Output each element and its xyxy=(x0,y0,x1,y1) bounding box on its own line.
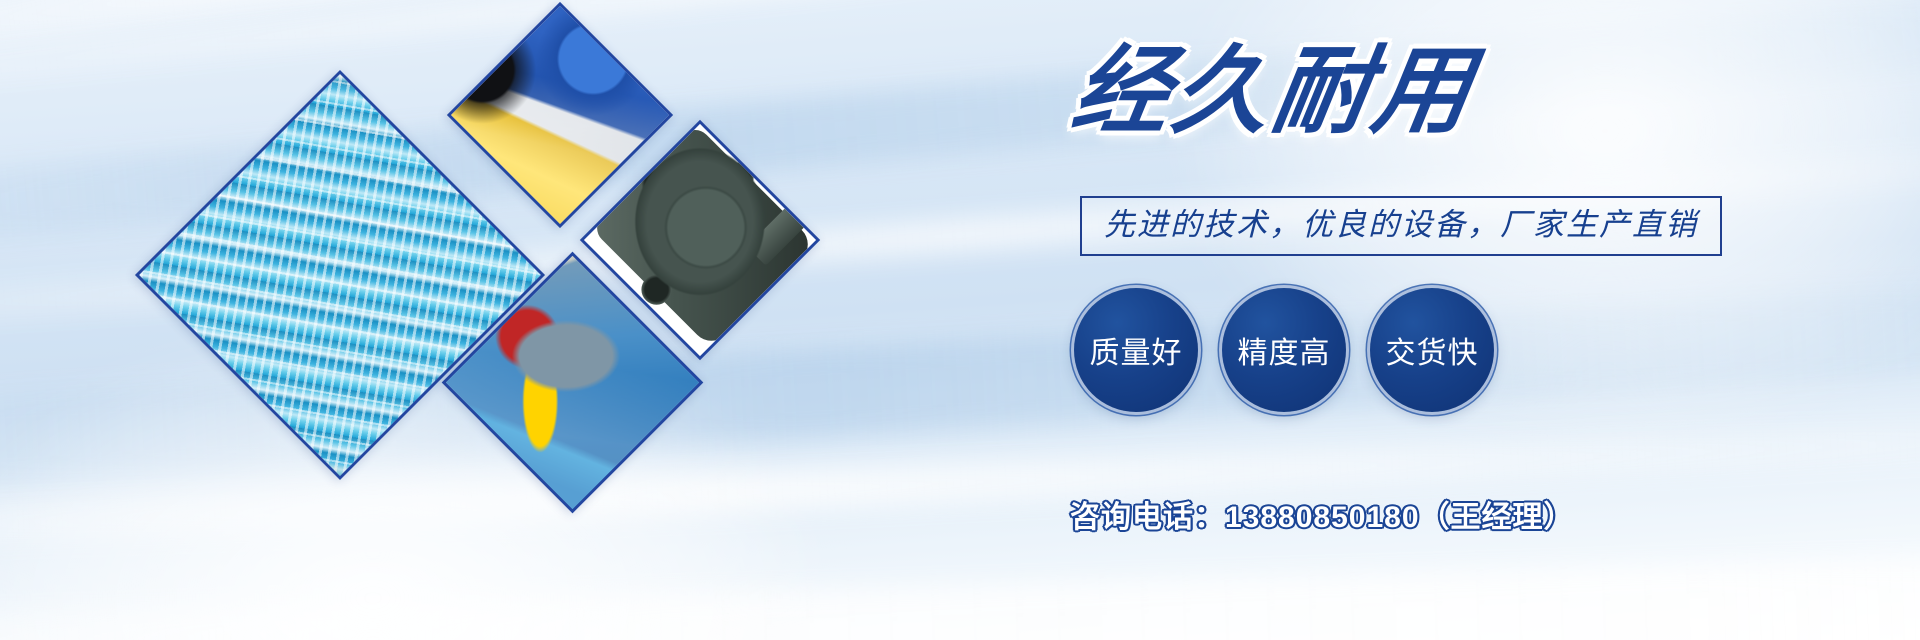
contact-phone-line[interactable]: 咨询电话：13880850180（王经理） xyxy=(1070,492,1575,536)
pump-bolt-hole-3 xyxy=(717,157,759,199)
pump-bolt-hole-1 xyxy=(635,163,677,205)
feature-badge-quality[interactable]: 质量好 xyxy=(1074,288,1198,412)
pump-bolt-hole-2 xyxy=(635,269,677,311)
banner-headline: 经久耐用 xyxy=(1066,44,1481,140)
banner-subtitle: 先进的技术，优良的设备，厂家生产直销 xyxy=(1104,208,1698,242)
badge-label-quality: 质量好 xyxy=(1090,328,1183,372)
badge-label-delivery: 交货快 xyxy=(1386,328,1479,372)
badge-label-precision: 精度高 xyxy=(1238,328,1331,372)
feature-badge-delivery[interactable]: 交货快 xyxy=(1370,288,1494,412)
feature-badge-precision[interactable]: 精度高 xyxy=(1222,288,1346,412)
product-image-collage xyxy=(150,0,830,640)
feature-badge-group: 质量好 精度高 交货快 xyxy=(1074,288,1494,412)
pump-shaft-shape xyxy=(746,205,807,266)
promo-banner: 经久耐用 先进的技术，优良的设备，厂家生产直销 质量好 精度高 交货快 咨询电话… xyxy=(0,0,1920,640)
banner-content: 经久耐用 先进的技术，优良的设备，厂家生产直销 质量好 精度高 交货快 咨询电话… xyxy=(1060,0,1780,640)
banner-subtitle-box: 先进的技术，优良的设备，厂家生产直销 xyxy=(1080,196,1722,256)
